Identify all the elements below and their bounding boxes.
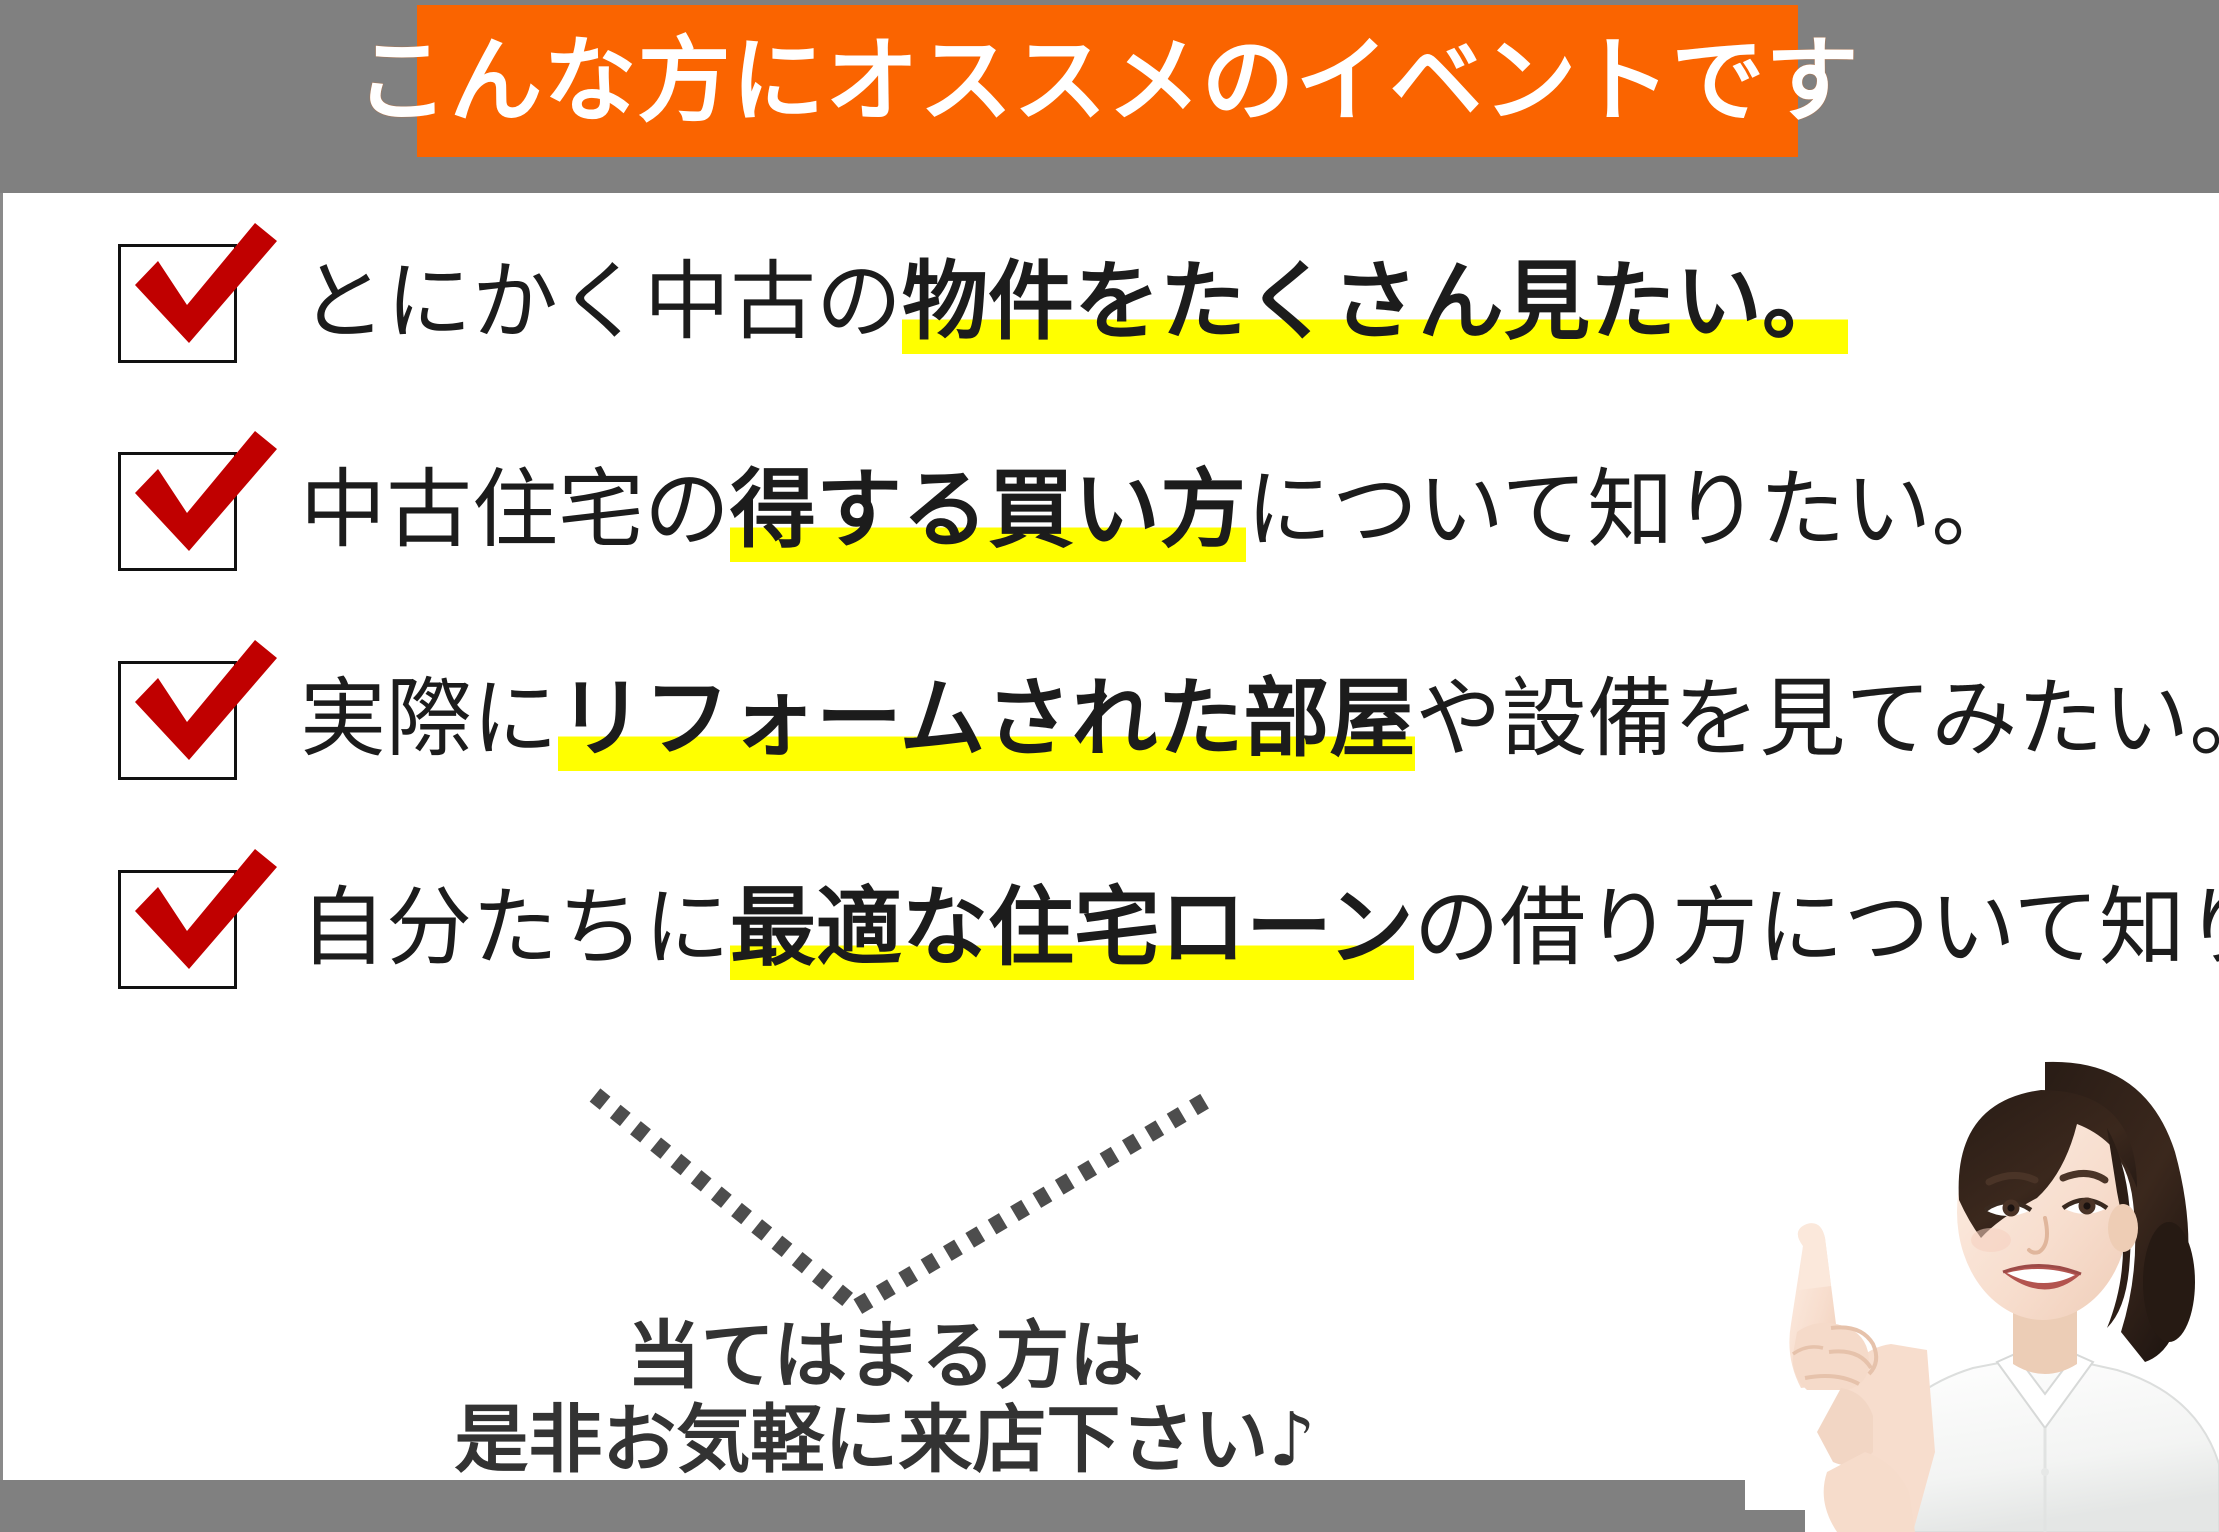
- red-check-mark-icon: [125, 640, 277, 788]
- text-plain-after: について知りたい。: [1246, 460, 2017, 560]
- checklist-item-text: 中古住宅の得する買い方について知りたい。: [300, 467, 2017, 555]
- banner-title: こんな方にオススメのイベントです: [356, 35, 1860, 128]
- checkbox-outline[interactable]: [118, 452, 237, 571]
- checklist-item-text: 実際にリフォームされた部屋や設備を見てみたい。: [300, 676, 2219, 764]
- checklist-item[interactable]: 実際にリフォームされた部屋や設備を見てみたい。: [118, 655, 2219, 785]
- checklist-item[interactable]: 中古住宅の得する買い方について知りたい。: [118, 446, 2017, 576]
- text-highlight: 物件をたくさん見たい。: [902, 252, 1848, 354]
- text-highlight: 得する買い方: [730, 460, 1246, 562]
- text-plain-before: 中古住宅の: [300, 460, 730, 560]
- cta-line-1: 当てはまる方は: [0, 1315, 1770, 1399]
- red-check-mark-icon: [125, 849, 277, 997]
- call-to-action: 当てはまる方は 是非お気軽に来店下さい♪: [0, 1315, 1770, 1482]
- text-plain-before: 実際に: [300, 669, 558, 769]
- checkbox-outline[interactable]: [118, 244, 237, 363]
- red-check-mark-icon: [125, 223, 277, 371]
- checklist-item[interactable]: 自分たちに最適な住宅ローンの借り方について知りたい。: [118, 864, 2219, 994]
- smiling-woman-pointing-up-photo: [1745, 1032, 2219, 1532]
- dotted-chevron-down-icon: [560, 1060, 1260, 1320]
- cta-line-2: 是非お気軽に来店下さい♪: [0, 1399, 1770, 1483]
- checklist-item-text: とにかく中古の物件をたくさん見たい。: [300, 259, 1848, 347]
- text-highlight: 最適な住宅ローン: [730, 878, 1414, 980]
- header-banner: こんな方にオススメのイベントです: [417, 5, 1798, 157]
- checklist-item-text: 自分たちに最適な住宅ローンの借り方について知りたい。: [300, 885, 2219, 973]
- red-check-mark-icon: [125, 431, 277, 579]
- text-highlight: リフォームされた部屋: [558, 669, 1415, 771]
- checkbox-outline[interactable]: [118, 870, 237, 989]
- checkbox-outline[interactable]: [118, 661, 237, 780]
- poster-root: こんな方にオススメのイベントです とにかく中古の物件をたくさん見たい。 中古住宅…: [0, 0, 2219, 1532]
- text-plain-before: とにかく中古の: [300, 252, 902, 352]
- text-plain-before: 自分たちに: [300, 878, 730, 978]
- checklist-item[interactable]: とにかく中古の物件をたくさん見たい。: [118, 238, 1848, 368]
- text-plain-after: の借り方について知りたい。: [1414, 878, 2219, 978]
- text-plain-after: や設備を見てみたい。: [1415, 669, 2219, 769]
